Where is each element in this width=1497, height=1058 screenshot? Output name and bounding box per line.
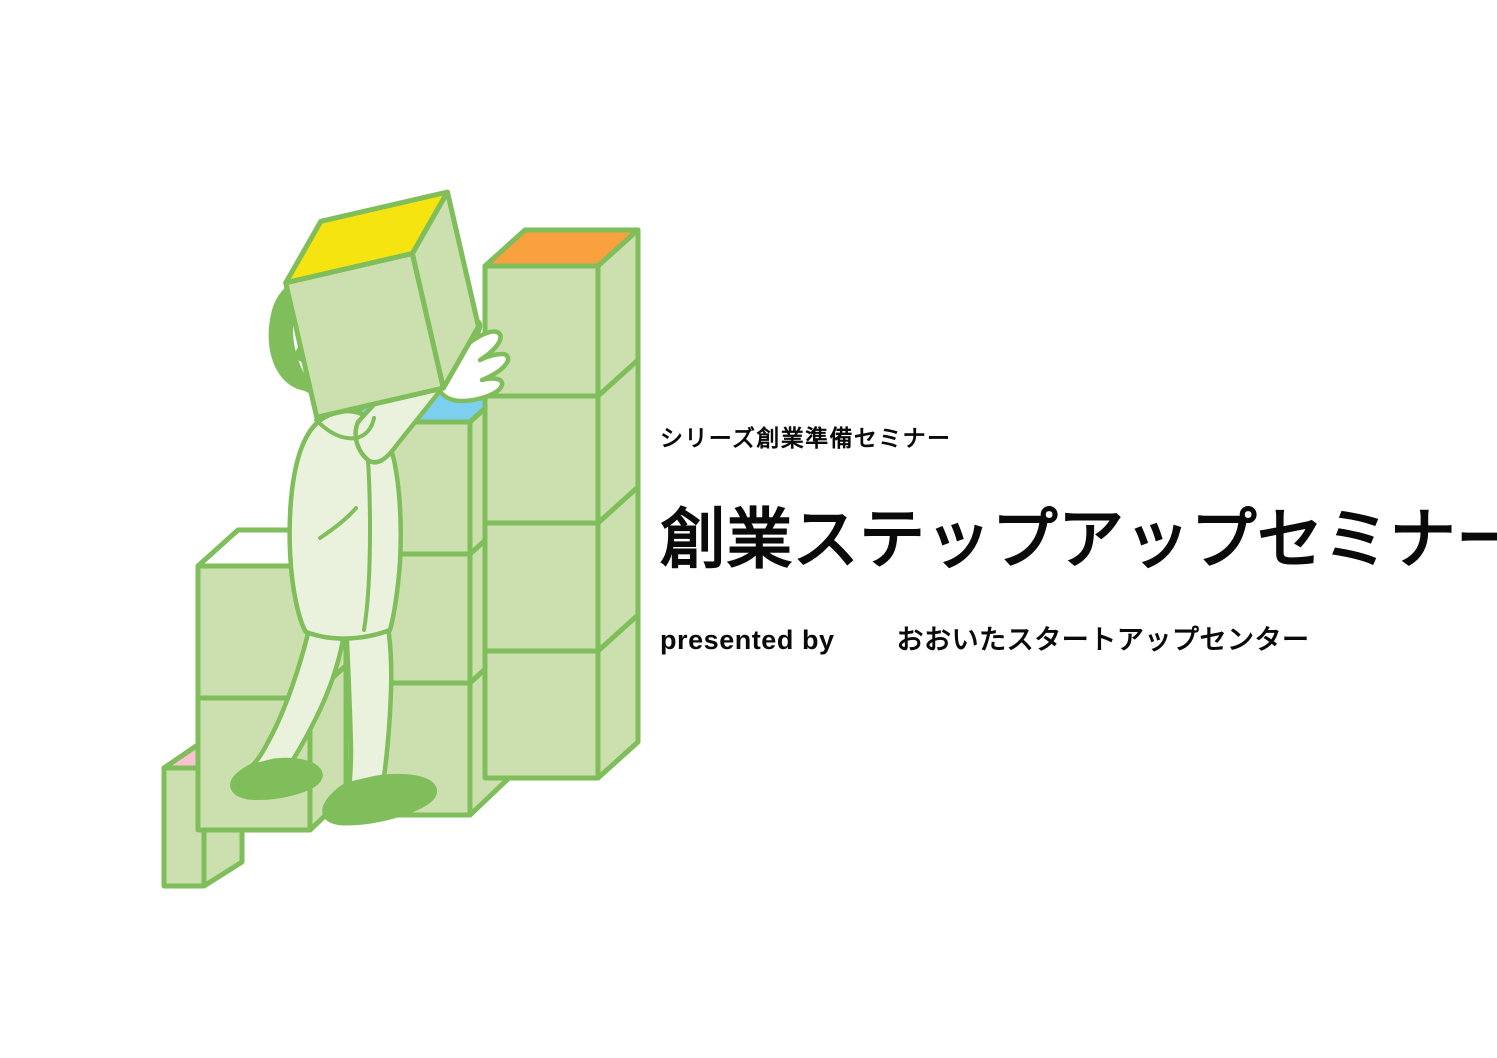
- block-face-4b: [485, 520, 598, 651]
- presented-by-line: presented by おおいたスタートアップセンター: [660, 624, 1450, 656]
- illustration-person-stacking-blocks: .blk { fill: #CBE0AE; stroke: #7FBE5A; s…: [150, 170, 650, 910]
- presented-by-prefix: presented by: [660, 625, 835, 655]
- illustration-svg: .blk { fill: #CBE0AE; stroke: #7FBE5A; s…: [150, 170, 650, 910]
- block-column-4-tallest: [485, 230, 638, 778]
- title-text-block: シリーズ創業準備セミナー 創業ステップアップセミナー presented by …: [660, 425, 1450, 656]
- figure-front-leg: [346, 620, 391, 790]
- block-face-4a: [485, 648, 598, 778]
- page-title: 創業ステップアップセミナー: [660, 505, 1450, 574]
- block-face-4c: [485, 392, 598, 523]
- series-label: シリーズ創業準備セミナー: [660, 425, 1450, 453]
- block-face-4d: [485, 266, 598, 396]
- slide-canvas: .blk { fill: #CBE0AE; stroke: #7FBE5A; s…: [0, 0, 1497, 1058]
- presented-by-organization: おおいたスタートアップセンター: [897, 625, 1310, 655]
